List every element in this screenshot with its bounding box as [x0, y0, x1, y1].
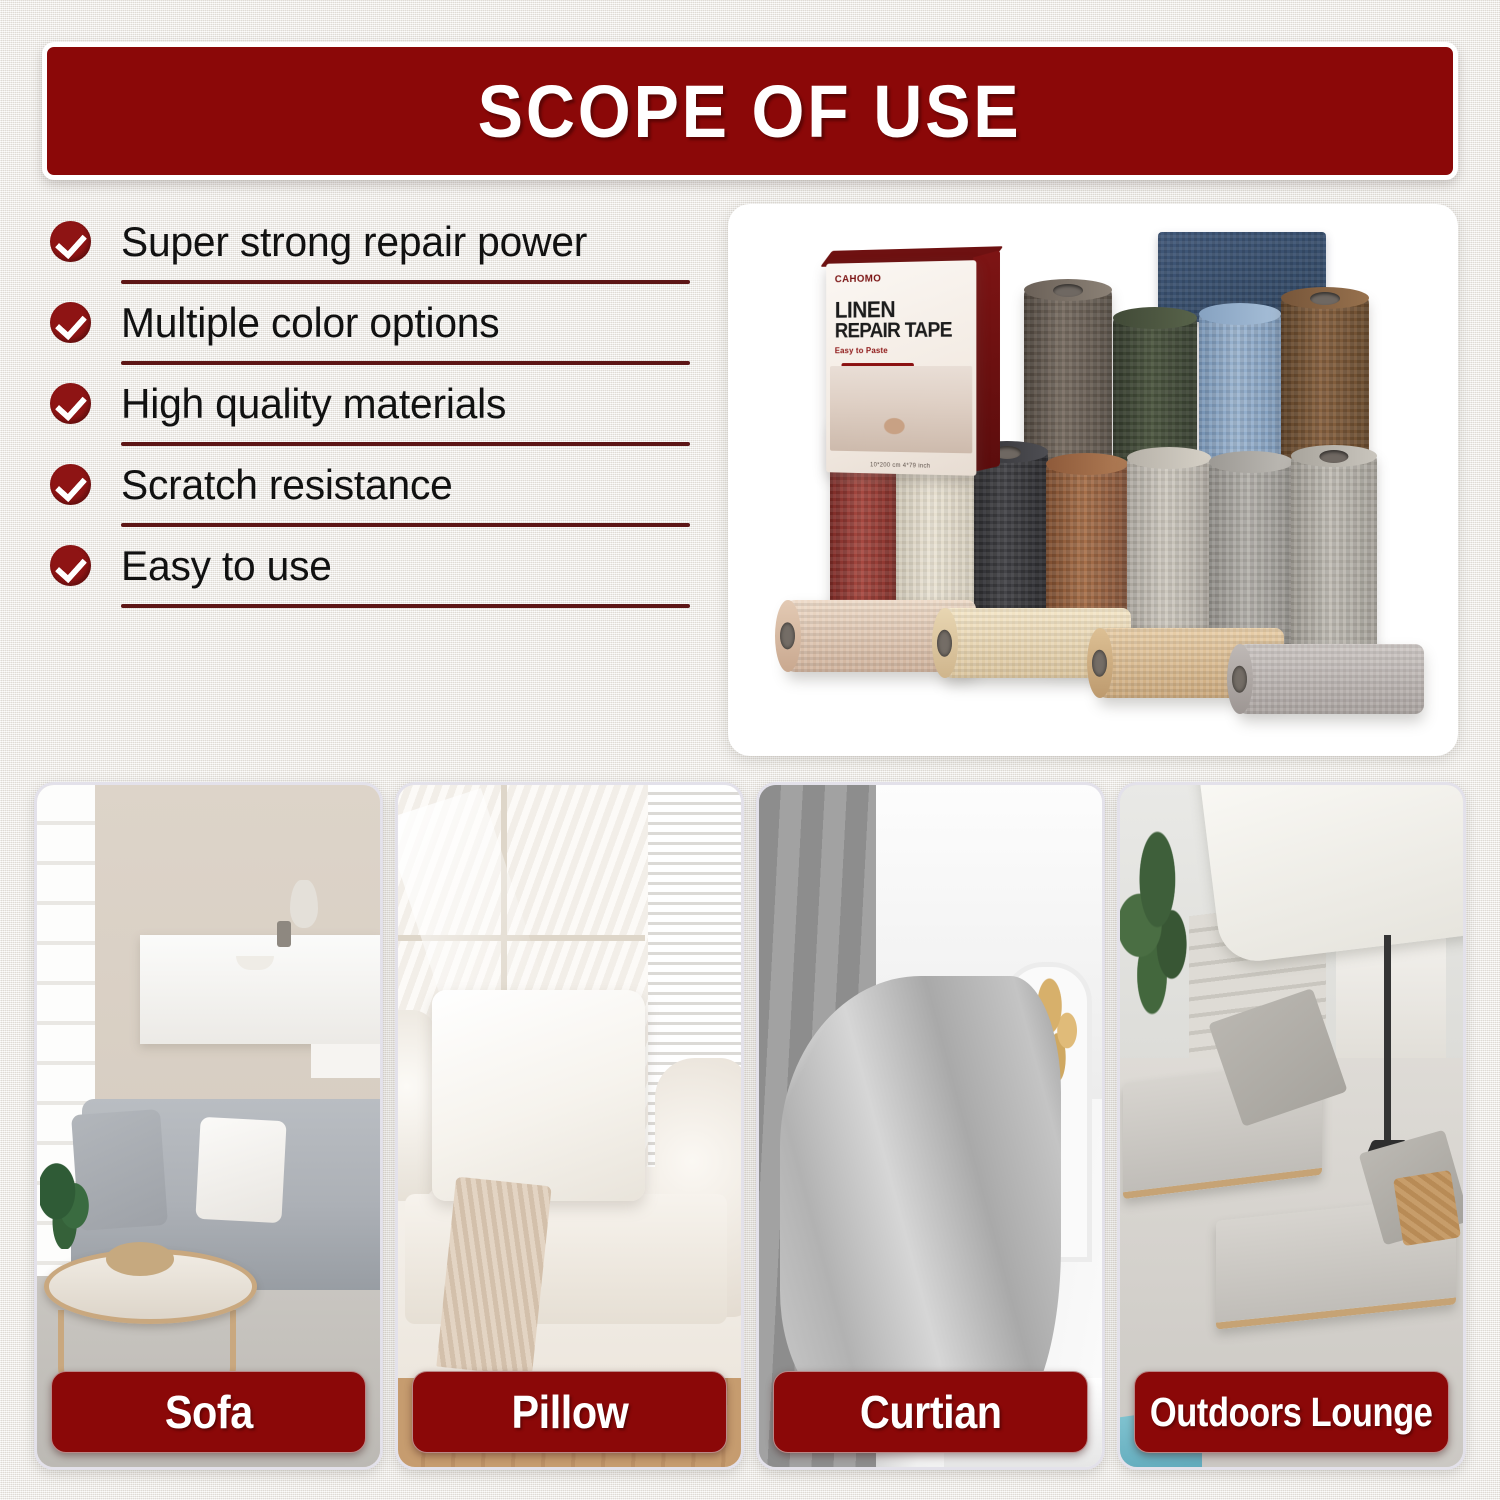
- sofa-arm-left: [395, 1010, 436, 1201]
- roll-cap: [1046, 453, 1128, 475]
- white-cushion: [196, 1117, 287, 1224]
- feature-item: High quality materials: [48, 365, 698, 442]
- tape-roll-silver: [1238, 644, 1424, 714]
- patio-umbrella: [1198, 782, 1466, 965]
- check-circle-icon: [50, 464, 91, 505]
- use-case-gallery: Sofa Pillow: [34, 782, 1466, 1470]
- roll-core-hole: [1310, 292, 1340, 305]
- box-size-text: 10*200 cm 4*79 inch: [826, 461, 976, 470]
- scene-curtain: [759, 785, 1102, 1467]
- scene-sofa: [37, 785, 380, 1467]
- roll-core-hole: [1053, 284, 1083, 297]
- scene-pillow: [398, 785, 741, 1467]
- vase-decor: [290, 880, 318, 928]
- box-front-face: CAHOMO LINEN REPAIR TAPE Easy to Paste Q…: [826, 260, 976, 476]
- vase-decor-small: [277, 921, 291, 947]
- umbrella-pole: [1384, 935, 1391, 1160]
- roll-cap: [1209, 451, 1293, 473]
- use-case-label-pill: Pillow: [412, 1371, 727, 1453]
- feature-list: Super strong repair power Multiple color…: [48, 203, 698, 608]
- banana-plant: [1120, 826, 1209, 1017]
- bowl-decor: [236, 956, 274, 970]
- roll-core-hole: [1319, 450, 1348, 463]
- use-case-card-sofa[interactable]: Sofa: [34, 782, 383, 1470]
- shelf: [311, 1044, 380, 1078]
- roll-cap: [1113, 307, 1197, 329]
- tape-roll-warm-grey: [1291, 454, 1377, 676]
- use-case-card-pillow[interactable]: Pillow: [395, 782, 744, 1470]
- roll-cap: [1127, 447, 1211, 469]
- wall-unit: [140, 935, 380, 1044]
- scope-of-use-banner: SCOPE OF USE: [42, 42, 1458, 180]
- feature-label: Super strong repair power: [121, 218, 587, 266]
- roll-core-hole: [1232, 666, 1247, 693]
- product-box: CAHOMO LINEN REPAIR TAPE Easy to Paste Q…: [826, 260, 976, 476]
- fringed-throw: [436, 1176, 551, 1376]
- draped-curtain-fabric: [780, 976, 1061, 1426]
- use-case-label-pill: Curtian: [773, 1371, 1088, 1453]
- scene-outdoors-lounge: [1120, 785, 1463, 1467]
- check-circle-icon: [50, 221, 91, 262]
- page-title: SCOPE OF USE: [478, 69, 1022, 154]
- check-circle-icon: [50, 545, 91, 586]
- use-case-card-outdoors-lounge[interactable]: Outdoors Lounge: [1117, 782, 1466, 1470]
- roll-core-hole: [937, 630, 952, 657]
- box-badge-easy-to-paste: Easy to Paste: [835, 346, 888, 355]
- box-title-line2: REPAIR TAPE: [835, 318, 952, 343]
- product-photo-card: CAHOMO LINEN REPAIR TAPE Easy to Paste Q…: [728, 204, 1458, 756]
- box-lifestyle-photo: [830, 366, 972, 453]
- roll-core-hole: [1092, 650, 1107, 677]
- feature-divider: [121, 604, 690, 608]
- linen-pillow: [432, 990, 645, 1201]
- feature-item: Super strong repair power: [48, 203, 698, 280]
- use-case-label-pill: Sofa: [51, 1371, 366, 1453]
- houseplant: [40, 1153, 95, 1248]
- use-case-label-pill: Outdoors Lounge: [1134, 1371, 1449, 1453]
- decor-tray: [106, 1242, 175, 1276]
- feature-label: High quality materials: [121, 380, 506, 428]
- use-case-label: Outdoors Lounge: [1150, 1389, 1433, 1436]
- feature-label: Easy to use: [121, 542, 332, 590]
- use-case-label: Sofa: [165, 1385, 253, 1439]
- feature-label: Scratch resistance: [121, 461, 453, 509]
- use-case-label: Curtian: [860, 1385, 1002, 1439]
- feature-item: Easy to use: [48, 527, 698, 604]
- feature-item: Multiple color options: [48, 284, 698, 361]
- woven-accent-pillow: [1393, 1170, 1461, 1246]
- product-stage: CAHOMO LINEN REPAIR TAPE Easy to Paste Q…: [728, 204, 1458, 756]
- feature-label: Multiple color options: [121, 299, 499, 347]
- check-circle-icon: [50, 302, 91, 343]
- check-circle-icon: [50, 383, 91, 424]
- feature-item: Scratch resistance: [48, 446, 698, 523]
- roll-cap: [1199, 303, 1281, 325]
- use-case-card-curtain[interactable]: Curtian: [756, 782, 1105, 1470]
- brand-logo: CAHOMO: [835, 273, 881, 285]
- use-case-label: Pillow: [511, 1385, 628, 1439]
- box-side-face: [973, 250, 1000, 472]
